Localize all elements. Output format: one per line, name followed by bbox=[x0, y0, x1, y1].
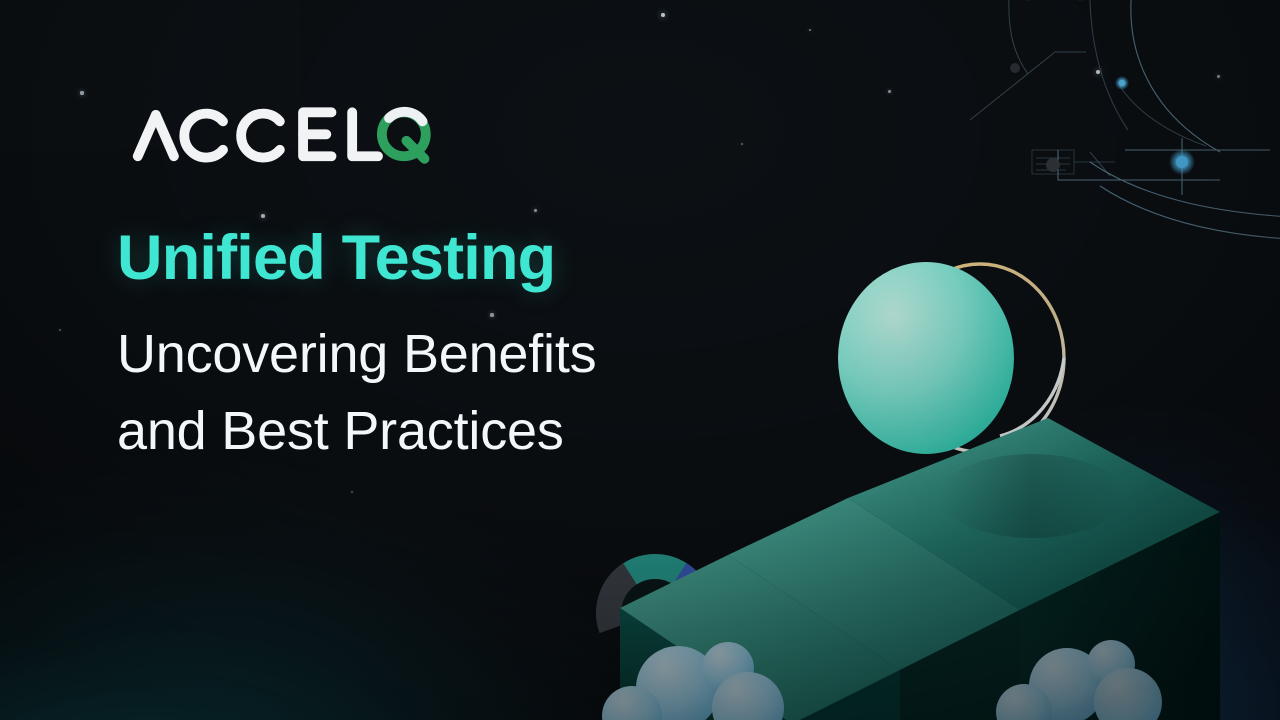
marketing-banner: ACCELQ Unified Testing Uncovering Benefi… bbox=[0, 0, 1280, 720]
subtitle-line-2: and Best Practices bbox=[117, 393, 817, 470]
page-title: Unified Testing bbox=[117, 226, 817, 290]
subtitle-line-1: Uncovering Benefits bbox=[117, 316, 817, 393]
accelq-logo[interactable]: ACCELQ bbox=[130, 102, 435, 164]
page-subtitle: Uncovering Benefits and Best Practices bbox=[117, 316, 817, 469]
copy-block: Unified Testing Uncovering Benefits and … bbox=[117, 226, 817, 470]
